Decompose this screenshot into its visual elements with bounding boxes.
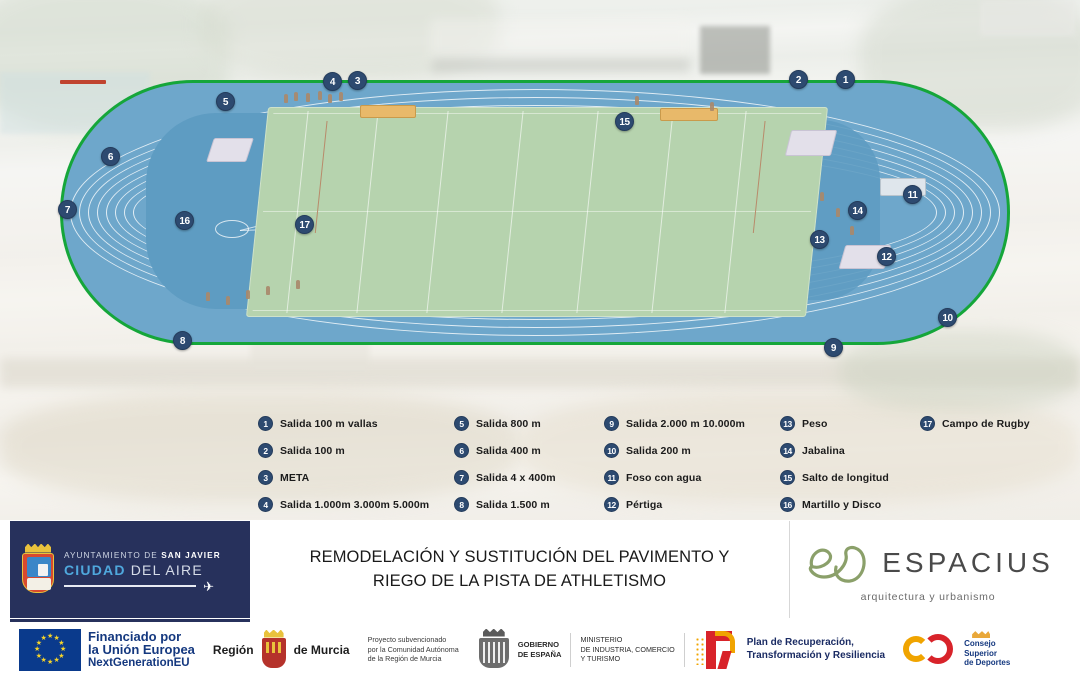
prtr-block: Plan de Recuperación, Transformación y R… bbox=[685, 624, 894, 675]
map-marker-17[interactable]: 17 bbox=[295, 215, 314, 234]
long-jump-pit bbox=[360, 105, 416, 118]
pole-vault-mat bbox=[785, 130, 837, 156]
city-logo-prefix: AYUNTAMIENTO DE bbox=[64, 551, 161, 560]
legend-number: 8 bbox=[454, 497, 469, 512]
shield-base bbox=[27, 578, 51, 590]
csd-line1: Consejo bbox=[964, 639, 1010, 649]
project-title: REMODELACIÓN Y SUSTITUCIÓN DEL PAVIMENTO… bbox=[250, 521, 790, 618]
crown-icon bbox=[264, 630, 284, 638]
city-logo-text: AYUNTAMIENTO DE SAN JAVIER CIUDAD DEL AI… bbox=[64, 551, 221, 589]
field-line bbox=[501, 111, 523, 313]
prtr-text: Plan de Recuperación, Transformación y R… bbox=[747, 637, 885, 662]
legend-number: 12 bbox=[604, 497, 619, 512]
field-line bbox=[263, 211, 811, 212]
prtr-line2: Transformación y Resiliencia bbox=[747, 650, 885, 663]
map-marker-5[interactable]: 5 bbox=[216, 92, 235, 111]
eu-star-icon: ★ bbox=[47, 633, 53, 640]
city-logo-line2: CIUDAD DEL AIRE bbox=[64, 562, 221, 578]
map-marker-8[interactable]: 8 bbox=[173, 331, 192, 350]
map-marker-2[interactable]: 2 bbox=[789, 70, 808, 89]
espacius-logo-row: ESPACIUS bbox=[802, 537, 1054, 589]
map-marker-11[interactable]: 11 bbox=[903, 185, 922, 204]
murcia-word-right: de Murcia bbox=[294, 643, 350, 657]
eu-line3: NextGenerationEU bbox=[88, 657, 195, 669]
murcia-note-line1: Proyecto subvencionado bbox=[368, 635, 459, 645]
murcia-note-line2: por la Comunidad Autónoma bbox=[368, 645, 459, 655]
csd-logo-icon bbox=[903, 630, 957, 670]
city-council-logo: AYUNTAMIENTO DE SAN JAVIER CIUDAD DEL AI… bbox=[10, 521, 250, 618]
legend-label: Salida 2.000 m 10.000m bbox=[626, 418, 745, 430]
map-marker-10[interactable]: 10 bbox=[938, 308, 957, 327]
legend-item-10: 10Salida 200 m bbox=[604, 437, 780, 464]
shield-body bbox=[22, 553, 54, 593]
field-line bbox=[356, 111, 378, 313]
legend-number: 10 bbox=[604, 443, 619, 458]
rugby-goal-post bbox=[315, 121, 328, 233]
map-marker-7[interactable]: 7 bbox=[58, 200, 77, 219]
legend-item-9: 9Salida 2.000 m 10.000m bbox=[604, 410, 780, 437]
runner-figure bbox=[306, 93, 310, 102]
gobierno-block: GOBIERNO DE ESPAÑA bbox=[468, 624, 571, 675]
legend-label: Foso con agua bbox=[626, 472, 701, 484]
map-marker-6[interactable]: 6 bbox=[101, 147, 120, 166]
csd-block: Consejo Superior de Deportes bbox=[894, 624, 1019, 675]
legend-number: 4 bbox=[258, 497, 273, 512]
airplane-icon: ✈ bbox=[203, 580, 214, 593]
eu-line1: Financiado por bbox=[88, 630, 195, 644]
map-marker-1[interactable]: 1 bbox=[836, 70, 855, 89]
legend-label: Martillo y Disco bbox=[802, 499, 881, 511]
legend-item-11: 11Foso con agua bbox=[604, 464, 780, 491]
eu-star-icon: ★ bbox=[34, 646, 40, 653]
espacius-name: ESPACIUS bbox=[882, 547, 1054, 579]
legend-item-17: 17Campo de Rugby bbox=[920, 410, 1070, 437]
legend-item-13: 13Peso bbox=[780, 410, 920, 437]
espacius-swirl-icon bbox=[802, 537, 876, 589]
murcia-note-text: Proyecto subvencionado por la Comunidad … bbox=[368, 635, 459, 664]
tower-icon bbox=[38, 564, 48, 576]
rugby-goal-post bbox=[753, 121, 766, 233]
murcia-note: Proyecto subvencionado por la Comunidad … bbox=[359, 624, 468, 675]
murcia-note-line3: de la Región de Murcia bbox=[368, 654, 459, 664]
runner-figure bbox=[318, 91, 322, 100]
ministerio-block: MINISTERIO DE INDUSTRIA, COMERCIO Y TURI… bbox=[571, 624, 683, 675]
shield-quarter bbox=[27, 557, 51, 577]
runner-figure bbox=[284, 94, 288, 103]
legend-item-empty bbox=[920, 437, 1070, 464]
legend-item-16: 16Martillo y Disco bbox=[780, 491, 920, 518]
field-line bbox=[253, 310, 801, 311]
field-line bbox=[724, 111, 746, 313]
map-marker-9[interactable]: 9 bbox=[824, 338, 843, 357]
legend-item-8: 8Salida 1.500 m bbox=[454, 491, 604, 518]
ministerio-text: MINISTERIO DE INDUSTRIA, COMERCIO Y TURI… bbox=[580, 635, 674, 664]
map-marker-15[interactable]: 15 bbox=[615, 112, 634, 131]
legend-number: 14 bbox=[780, 443, 795, 458]
legend-item-5: 5Salida 800 m bbox=[454, 410, 604, 437]
legend-number: 13 bbox=[780, 416, 795, 431]
photo-structure bbox=[980, 0, 1075, 36]
prtr-logo-icon bbox=[694, 629, 740, 671]
map-marker-12[interactable]: 12 bbox=[877, 247, 896, 266]
legend-label: Salida 100 m vallas bbox=[280, 418, 378, 430]
murcia-coat-of-arms-icon bbox=[261, 630, 287, 670]
murcia-block: Región de Murcia bbox=[204, 624, 359, 675]
city-logo-rule: ✈ bbox=[64, 583, 214, 589]
accent-rule bbox=[10, 619, 250, 622]
legend: 1Salida 100 m vallas5Salida 800 m9Salida… bbox=[258, 410, 1058, 518]
funding-bar: ★★★★★★★★★★★★ Financiado por la Unión Eur… bbox=[10, 624, 1070, 675]
title-bar: AYUNTAMIENTO DE SAN JAVIER CIUDAD DEL AI… bbox=[10, 521, 1070, 618]
runner-figure bbox=[226, 296, 230, 305]
legend-item-6: 6Salida 400 m bbox=[454, 437, 604, 464]
legend-number: 6 bbox=[454, 443, 469, 458]
eu-funding-block: ★★★★★★★★★★★★ Financiado por la Unión Eur… bbox=[10, 624, 204, 675]
page-title-line2: RIEGO DE LA PISTA DE ATHLETISMO bbox=[373, 572, 666, 591]
legend-item-15: 15Salto de longitud bbox=[780, 464, 920, 491]
csd-arc-right bbox=[923, 634, 953, 664]
legend-item-4: 4Salida 1.000m 3.000m 5.000m bbox=[258, 491, 454, 518]
eu-star-icon: ★ bbox=[47, 659, 53, 666]
city-logo-line1: AYUNTAMIENTO DE SAN JAVIER bbox=[64, 551, 221, 560]
runner-figure bbox=[294, 92, 298, 101]
legend-label: Salida 1.000m 3.000m 5.000m bbox=[280, 499, 429, 511]
legend-label: Salida 100 m bbox=[280, 445, 345, 457]
prtr-leg bbox=[717, 651, 731, 669]
photo-roof bbox=[700, 26, 770, 74]
legend-label: META bbox=[280, 472, 309, 484]
csd-text: Consejo Superior de Deportes bbox=[964, 639, 1010, 668]
espacius-logo: ESPACIUS arquitectura y urbanismo bbox=[790, 521, 1070, 618]
legend-label: Salida 800 m bbox=[476, 418, 541, 430]
eu-line2: la Unión Europea bbox=[88, 643, 195, 657]
legend-label: Salida 1.500 m bbox=[476, 499, 550, 511]
legend-label: Salto de longitud bbox=[802, 472, 889, 484]
legend-number: 9 bbox=[604, 416, 619, 431]
field-line bbox=[651, 111, 673, 313]
ministerio-line2: DE INDUSTRIA, COMERCIO bbox=[580, 645, 674, 655]
runner-figure bbox=[339, 92, 343, 101]
rule-line bbox=[64, 585, 196, 587]
map-marker-4[interactable]: 4 bbox=[323, 72, 342, 91]
legend-item-12: 12Pértiga bbox=[604, 491, 780, 518]
field-line bbox=[576, 111, 598, 313]
runner-figure bbox=[246, 290, 250, 299]
runner-figure bbox=[635, 96, 639, 105]
runner-figure bbox=[328, 94, 332, 103]
legend-label: Salida 4 x 400m bbox=[476, 472, 556, 484]
csd-line3: de Deportes bbox=[964, 658, 1010, 668]
gobierno-line2: DE ESPAÑA bbox=[518, 650, 562, 660]
legend-number: 2 bbox=[258, 443, 273, 458]
shield-body bbox=[479, 638, 509, 668]
eu-star-icon: ★ bbox=[36, 653, 42, 660]
legend-number: 17 bbox=[920, 416, 935, 431]
runner-figure bbox=[850, 226, 854, 235]
murcia-word-left: Región bbox=[213, 643, 254, 657]
ministerio-line1: MINISTERIO bbox=[580, 635, 674, 645]
runner-figure bbox=[296, 280, 300, 289]
legend-number: 5 bbox=[454, 416, 469, 431]
runner-figure bbox=[836, 208, 840, 217]
spain-coat-of-arms-icon bbox=[477, 629, 511, 671]
crown-icon bbox=[25, 544, 51, 553]
legend-item-14: 14Jabalina bbox=[780, 437, 920, 464]
gobierno-text: GOBIERNO DE ESPAÑA bbox=[518, 640, 562, 660]
prtr-dots bbox=[695, 637, 705, 665]
shield-body bbox=[262, 638, 286, 668]
runner-figure bbox=[820, 192, 824, 201]
prtr-line1: Plan de Recuperación, bbox=[747, 637, 885, 650]
map-marker-14[interactable]: 14 bbox=[848, 201, 867, 220]
legend-number: 1 bbox=[258, 416, 273, 431]
legend-number: 15 bbox=[780, 470, 795, 485]
legend-number: 3 bbox=[258, 470, 273, 485]
map-marker-13[interactable]: 13 bbox=[810, 230, 829, 249]
legend-label: Campo de Rugby bbox=[942, 418, 1030, 430]
csd-line2: Superior bbox=[964, 649, 1010, 659]
city-logo-delaire: DEL AIRE bbox=[131, 562, 203, 578]
water-jump-barrier bbox=[60, 80, 106, 84]
map-marker-16[interactable]: 16 bbox=[175, 211, 194, 230]
runner-figure bbox=[206, 292, 210, 301]
legend-label: Salida 200 m bbox=[626, 445, 691, 457]
crown-icon bbox=[972, 631, 990, 638]
city-logo-name: SAN JAVIER bbox=[161, 551, 221, 560]
prtr-curve bbox=[715, 631, 735, 653]
field-line bbox=[273, 113, 821, 114]
high-jump-mat bbox=[206, 138, 254, 162]
gobierno-line1: GOBIERNO bbox=[518, 640, 562, 650]
legend-number: 11 bbox=[604, 470, 619, 485]
field-line bbox=[426, 111, 448, 313]
legend-number: 16 bbox=[780, 497, 795, 512]
ministerio-line3: Y TURISMO bbox=[580, 654, 674, 664]
legend-label: Pértiga bbox=[626, 499, 662, 511]
san-javier-coat-of-arms-icon bbox=[20, 544, 56, 596]
crown-icon bbox=[483, 629, 505, 637]
runner-figure bbox=[266, 286, 270, 295]
runner-figure bbox=[710, 102, 714, 111]
page-title-line1: REMODELACIÓN Y SUSTITUCIÓN DEL PAVIMENTO… bbox=[310, 548, 730, 567]
legend-label: Peso bbox=[802, 418, 828, 430]
legend-label: Salida 400 m bbox=[476, 445, 541, 457]
espacius-tagline: arquitectura y urbanismo bbox=[861, 591, 996, 603]
legend-item-empty bbox=[920, 464, 1070, 491]
legend-item-3: 3META bbox=[258, 464, 454, 491]
legend-item-2: 2Salida 100 m bbox=[258, 437, 454, 464]
legend-item-1: 1Salida 100 m vallas bbox=[258, 410, 454, 437]
athletics-track bbox=[60, 80, 1010, 345]
photo-building-strip bbox=[432, 58, 690, 72]
eu-funding-text: Financiado por la Unión Europea NextGene… bbox=[88, 630, 195, 669]
eu-star-icon: ★ bbox=[54, 657, 60, 664]
eu-flag-icon: ★★★★★★★★★★★★ bbox=[19, 629, 81, 671]
legend-label: Jabalina bbox=[802, 445, 845, 457]
legend-item-7: 7Salida 4 x 400m bbox=[454, 464, 604, 491]
rugby-field bbox=[246, 107, 828, 317]
city-logo-ciudad: CIUDAD bbox=[64, 562, 126, 578]
legend-item-empty bbox=[920, 491, 1070, 518]
legend-number: 7 bbox=[454, 470, 469, 485]
eu-star-icon: ★ bbox=[41, 635, 47, 642]
map-marker-3[interactable]: 3 bbox=[348, 71, 367, 90]
